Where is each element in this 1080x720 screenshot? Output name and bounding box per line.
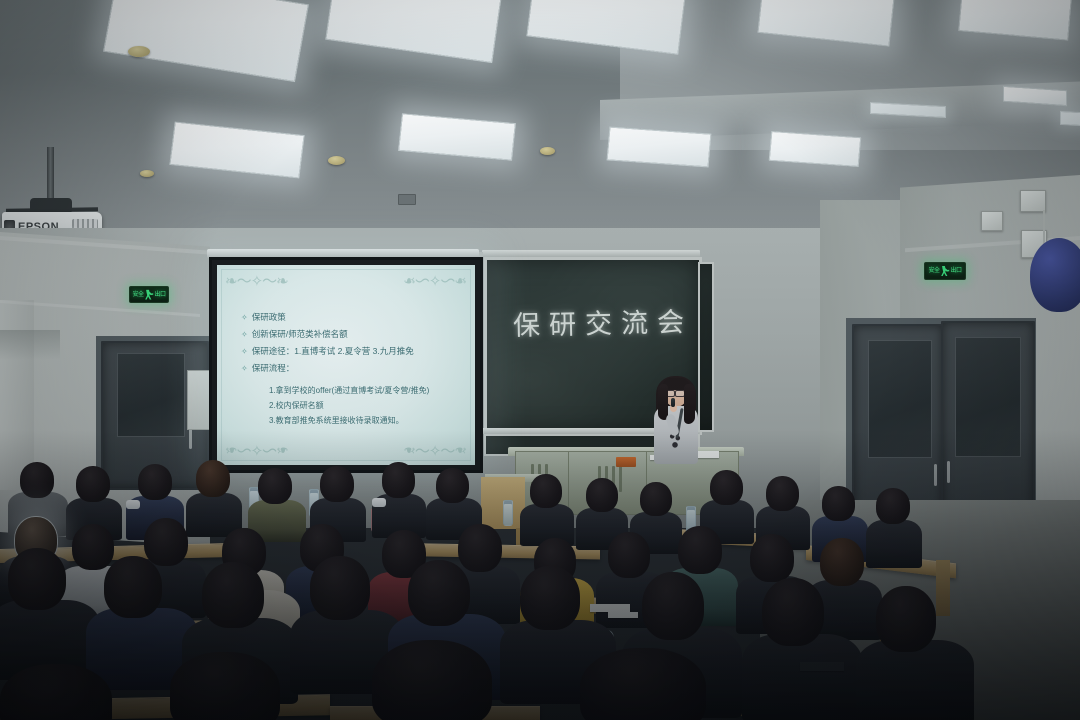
audience-head [822, 486, 855, 521]
projection-screen: ❧〜✧〜❧ ❧〜✧〜❧ ❧〜✧〜❧ ❧〜✧〜❧ ✧ 保研政策 ✧ 创新保研/师范… [209, 257, 483, 473]
bullet-marker-icon: ✧ [241, 326, 248, 343]
audience-head [820, 538, 864, 586]
audience-head [20, 462, 54, 498]
desk-orange-object [616, 457, 636, 467]
chalkboard-top-rail [482, 250, 700, 257]
audience-head-front [642, 572, 704, 640]
slide-ornament-icon: ❧〜✧〜❧ [225, 441, 269, 459]
audience-head-front [762, 578, 824, 646]
presenter-speaker [648, 374, 704, 469]
right-door-right-leaf[interactable] [941, 321, 1035, 523]
running-man-icon [941, 266, 950, 276]
audience-head [876, 488, 910, 524]
slide-bullet-text: 创新保研/师范类补偿名额 [252, 326, 348, 343]
audience-head [530, 474, 562, 508]
audience-head [766, 476, 799, 511]
slide-bullet-text: 保研流程： [252, 360, 295, 377]
slide-bullet-item: ✧ 创新保研/师范类补偿名额 [241, 326, 461, 343]
left-pillar [0, 300, 34, 490]
audience-head [320, 466, 354, 502]
audience-head-foreground [0, 664, 112, 720]
smoke-detector-icon [140, 170, 154, 177]
slide-ornament-icon: ❧〜✧〜❧ [423, 272, 467, 290]
exit-sign-left-label-b: 出口 [155, 292, 166, 298]
exit-sign-right-label-b: 出口 [951, 268, 962, 274]
projector-mount-pole [47, 147, 54, 205]
audience-head [72, 524, 114, 570]
audience-member-front [742, 634, 862, 720]
ceiling-light-panel [607, 127, 712, 168]
audience-head [138, 464, 172, 500]
desk-side-panel [936, 560, 950, 616]
podium-panel-seam [568, 452, 569, 514]
audience-head-front [8, 548, 66, 610]
ceiling-vent [398, 194, 416, 205]
right-door-left-handle[interactable] [934, 464, 937, 486]
audience-head [608, 532, 650, 578]
left-door-handle[interactable] [189, 429, 192, 449]
audience-head [144, 518, 188, 566]
slide-ornament-icon: ❧〜✧〜❧ [225, 272, 269, 290]
microphone-icon [671, 398, 675, 407]
exit-sign-left: 安全 出口 [129, 286, 169, 303]
podium-vent-slot [619, 466, 622, 492]
audience-head-foreground [580, 648, 706, 720]
face-mask-icon [372, 498, 386, 507]
right-door-right-handle[interactable] [947, 461, 950, 483]
lecture-hall-photo: EPSON 安全 出口 安全 出口 [0, 0, 1080, 720]
exit-sign-right: 安全 出口 [924, 262, 966, 280]
wall-electrical-box [1020, 190, 1046, 212]
left-door-glass [117, 353, 185, 437]
slide-bullet-item: ✧ 保研政策 [241, 309, 461, 326]
smoke-detector-icon [128, 46, 150, 57]
slide-bullet-list: ✧ 保研政策 ✧ 创新保研/师范类补偿名额 ✧ 保研途径：1.直博考试 2.夏令… [241, 309, 461, 377]
notebook-on-desk [608, 612, 638, 618]
audience-head [76, 466, 110, 502]
audience-head [750, 534, 794, 582]
audience-member [866, 520, 922, 568]
audience-head-foreground [372, 640, 492, 720]
ceiling-light-panel [1060, 111, 1080, 127]
slide-numbered-item: 3.教育部推免系统里接收待录取通知。 [269, 413, 465, 428]
audience-head [458, 524, 502, 572]
smoke-detector-icon [540, 147, 555, 155]
right-door-right-glass [955, 337, 1021, 457]
notebook-on-desk [590, 604, 630, 612]
running-man-icon [145, 290, 154, 300]
smoke-detector-icon [328, 156, 345, 165]
left-pillar-shadow [0, 330, 60, 360]
audience-head [640, 482, 672, 516]
presenter-hair-right [684, 384, 695, 424]
slide-bullet-item: ✧ 保研流程： [241, 360, 461, 377]
face-mask-icon [126, 500, 140, 509]
audience-head-front [520, 566, 580, 630]
bullet-marker-icon: ✧ [241, 309, 248, 326]
slide-bullet-text: 保研途径：1.直博考试 2.夏令营 3.九月推免 [252, 343, 414, 360]
bullet-marker-icon: ✧ [241, 343, 248, 360]
slide-bullet-item: ✧ 保研途径：1.直博考试 2.夏令营 3.九月推免 [241, 343, 461, 360]
slide-numbered-item: 1.拿到学校的offer(通过直博考试/夏令营/推免) [269, 383, 465, 398]
exit-sign-left-label-a: 安全 [132, 292, 143, 298]
audience-head [710, 470, 743, 505]
audience-head-foreground [170, 652, 280, 720]
water-bottle [503, 500, 513, 526]
wall-electrical-box [981, 211, 1003, 231]
blue-balloon-decoration [1030, 238, 1080, 312]
slide-bullet-text: 保研政策 [252, 309, 286, 326]
presentation-slide: ❧〜✧〜❧ ❧〜✧〜❧ ❧〜✧〜❧ ❧〜✧〜❧ ✧ 保研政策 ✧ 创新保研/师范… [217, 265, 475, 465]
audience-head [196, 460, 230, 497]
slide-ornament-icon: ❧〜✧〜❧ [423, 441, 467, 459]
audience-head-front [310, 556, 370, 620]
audience-head-front [104, 556, 162, 618]
slide-numbered-item: 2.校内保研名额 [269, 398, 465, 413]
audience-head [586, 478, 618, 512]
audience-head-front [408, 560, 470, 626]
audience-head-front [202, 562, 264, 628]
ceiling-light-panel [769, 131, 862, 167]
exit-sign-right-label-a: 安全 [928, 268, 939, 274]
chalkboard-title-text: 保研交流会 [513, 300, 694, 343]
left-wall-control-panel [187, 370, 211, 430]
right-door-left-glass [868, 340, 932, 458]
audience-head [382, 462, 415, 498]
notebook-on-desk [800, 662, 844, 671]
audience-head [258, 468, 292, 504]
slide-numbered-list: 1.拿到学校的offer(通过直博考试/夏令营/推免) 2.校内保研名额 3.教… [269, 383, 465, 428]
audience-head [436, 468, 469, 503]
audience-head [678, 526, 722, 574]
audience-head-front [876, 586, 936, 652]
audience-member-front [856, 640, 974, 720]
bullet-marker-icon: ✧ [241, 360, 248, 377]
